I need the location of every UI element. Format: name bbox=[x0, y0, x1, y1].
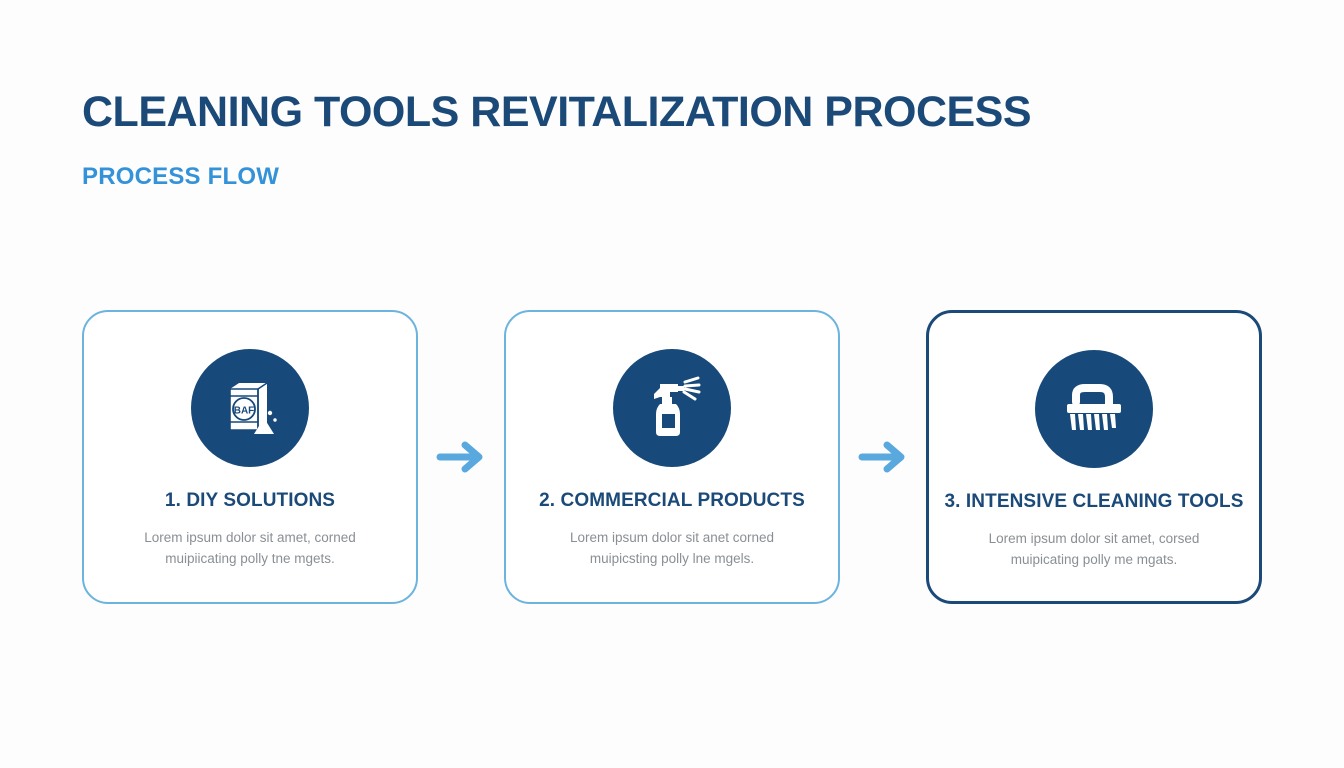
step-2-description: Lorem ipsum dolor sit anet corned muipic… bbox=[538, 528, 806, 570]
step-3-description: Lorem ipsum dolor sit amet, corsed muipi… bbox=[960, 529, 1228, 571]
step-card-3[interactable]: 3. INTENSIVE CLEANING TOOLS Lorem ipsum … bbox=[926, 310, 1262, 604]
step-1-description: Lorem ipsum dolor sit amet, corned muipi… bbox=[116, 528, 384, 570]
arrow-right-icon bbox=[857, 437, 909, 477]
flow-connector-1 bbox=[430, 434, 492, 480]
step-2-title: 2. COMMERCIAL PRODUCTS bbox=[539, 490, 805, 512]
step-card-2[interactable]: 2. COMMERCIAL PRODUCTS Lorem ipsum dolor… bbox=[504, 310, 840, 604]
step-card-1[interactable]: BAF 1. DIY SOLUTIONS Lorem ipsum dolor s… bbox=[82, 310, 418, 604]
step-1-title: 1. DIY SOLUTIONS bbox=[165, 490, 335, 512]
page-subtitle: PROCESS FLOW bbox=[82, 135, 1262, 191]
flow-connector-2 bbox=[852, 434, 914, 480]
arrow-right-icon bbox=[435, 437, 487, 477]
step-1-icon-badge: BAF bbox=[191, 349, 309, 467]
scrub-brush-icon bbox=[1056, 371, 1132, 447]
detergent-box-icon: BAF bbox=[214, 372, 286, 444]
svg-text:BAF: BAF bbox=[234, 406, 255, 417]
page-title: CLEANING TOOLS REVITALIZATION PROCESS bbox=[82, 90, 1262, 135]
spray-bottle-icon bbox=[636, 372, 708, 444]
page-header: CLEANING TOOLS REVITALIZATION PROCESS PR… bbox=[82, 90, 1262, 191]
step-3-icon-badge bbox=[1035, 350, 1153, 468]
process-flow-row: BAF 1. DIY SOLUTIONS Lorem ipsum dolor s… bbox=[82, 309, 1262, 605]
step-2-icon-badge bbox=[613, 349, 731, 467]
step-3-title: 3. INTENSIVE CLEANING TOOLS bbox=[945, 491, 1244, 513]
